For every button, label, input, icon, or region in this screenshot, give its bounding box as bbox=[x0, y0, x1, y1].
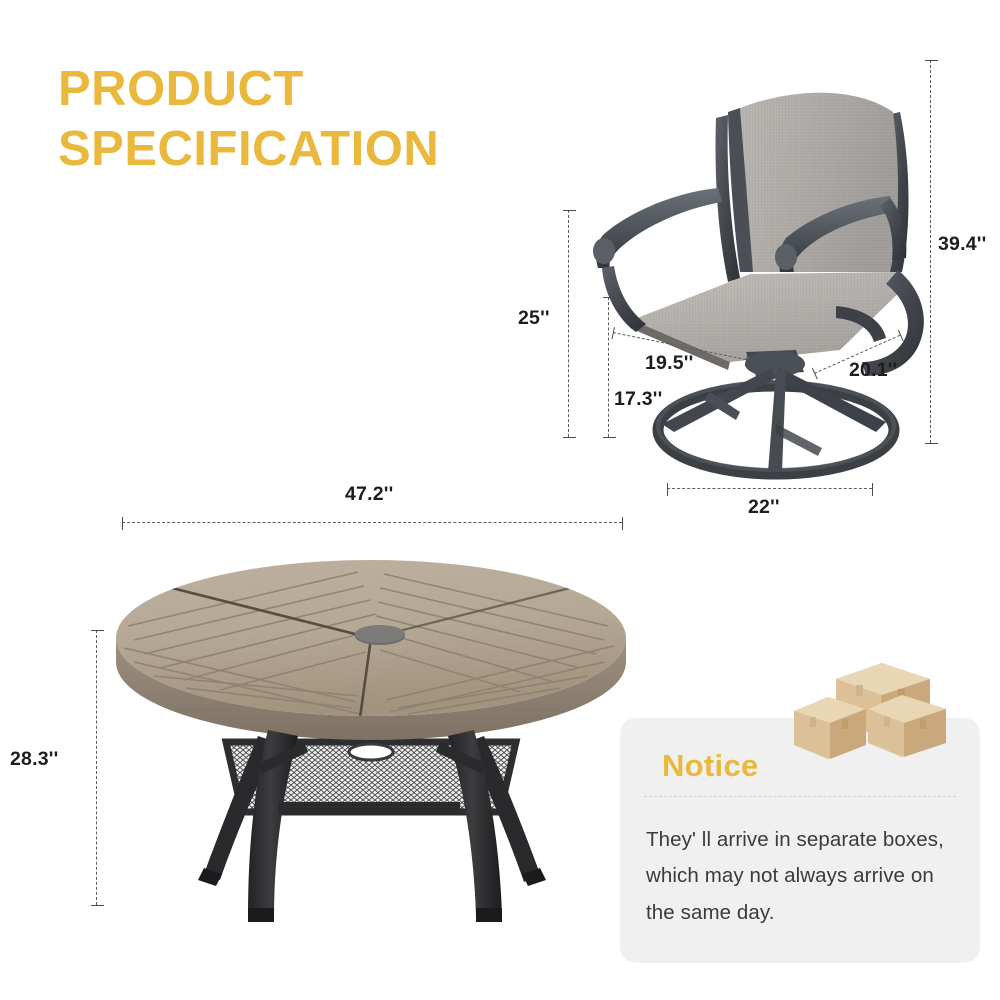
dimension-label-chair-seat-width: 20.1'' bbox=[849, 359, 897, 382]
dimension-line-chair-base-width bbox=[667, 488, 872, 489]
dimension-label-chair-seat-height: 17.3'' bbox=[614, 388, 662, 411]
dimension-label-chair-back-height: 25'' bbox=[518, 307, 550, 330]
chair-illustration bbox=[590, 20, 950, 480]
notice-body-text: They' ll arrive in separate boxes, which… bbox=[646, 822, 962, 931]
dimension-line-chair-seat-height bbox=[608, 297, 609, 437]
cardboard-boxes-icon bbox=[790, 655, 950, 765]
dimension-label-chair-height: 39.4'' bbox=[938, 233, 986, 256]
dimension-label-table-diameter: 47.2'' bbox=[345, 483, 393, 506]
notice-heading: Notice bbox=[662, 748, 759, 784]
dimension-label-chair-seat-depth: 19.5'' bbox=[645, 352, 693, 375]
table-illustration bbox=[108, 530, 638, 940]
dimension-line-table-diameter bbox=[122, 522, 622, 523]
dimension-line-chair-height bbox=[930, 60, 931, 443]
dimension-label-chair-base-width: 22'' bbox=[748, 496, 780, 519]
notice-divider bbox=[644, 796, 956, 797]
dimension-label-table-height: 28.3'' bbox=[10, 748, 58, 771]
dimension-line-chair-back-height bbox=[568, 210, 569, 437]
dimension-line-table-height bbox=[96, 630, 97, 905]
specification-sheet: PRODUCT SPECIFICATION bbox=[0, 0, 1000, 1000]
page-title: PRODUCT SPECIFICATION bbox=[58, 60, 578, 180]
